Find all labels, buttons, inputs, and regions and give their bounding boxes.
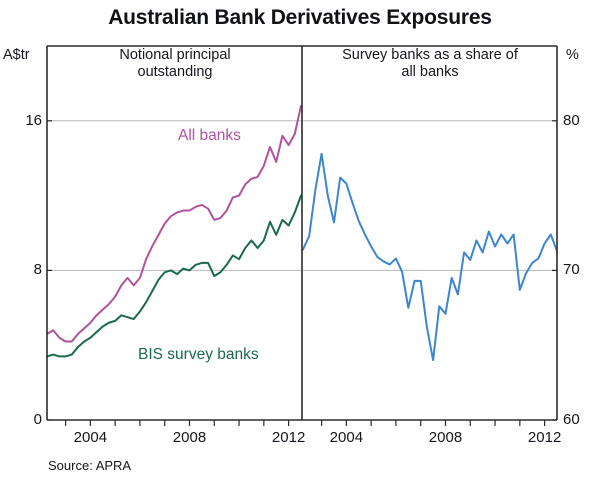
x-tick-label: 2008	[415, 430, 475, 445]
x-tick-label: 2012	[259, 430, 319, 445]
right-panel-heading-line1: Survey banks as a share of	[304, 47, 556, 64]
x-tick-label: 2004	[60, 430, 120, 445]
series-label-all-banks: All banks	[178, 128, 241, 144]
right-y-tick-label: 80	[563, 113, 600, 128]
left-panel-heading: Notional principal outstanding	[49, 47, 301, 81]
axis-frame	[47, 46, 557, 420]
right-y-tick-label: 60	[563, 412, 600, 427]
right-axis-unit-label: %	[566, 47, 579, 63]
right-panel-heading-line2: all banks	[304, 64, 556, 81]
x-tick-label: 2004	[316, 430, 376, 445]
chart-title: Australian Bank Derivatives Exposures	[0, 6, 600, 30]
series-label-bis-survey-banks: BIS survey banks	[138, 347, 259, 363]
left-y-tick-label: 0	[2, 412, 42, 427]
source-note: Source: APRA	[48, 458, 131, 473]
left-y-tick-label: 8	[2, 262, 42, 277]
left-y-tick-label: 16	[2, 113, 42, 128]
left-panel-heading-line2: outstanding	[49, 64, 301, 81]
x-tick-label: 2012	[515, 430, 575, 445]
left-axis-unit-label: A$tr	[3, 47, 30, 63]
x-tick-label: 2008	[159, 430, 219, 445]
left-panel-heading-line1: Notional principal	[49, 47, 301, 64]
chart-figure: Australian Bank Derivatives Exposures A$…	[0, 0, 600, 483]
right-y-tick-label: 70	[563, 262, 600, 277]
right-panel-heading: Survey banks as a share of all banks	[304, 47, 556, 81]
